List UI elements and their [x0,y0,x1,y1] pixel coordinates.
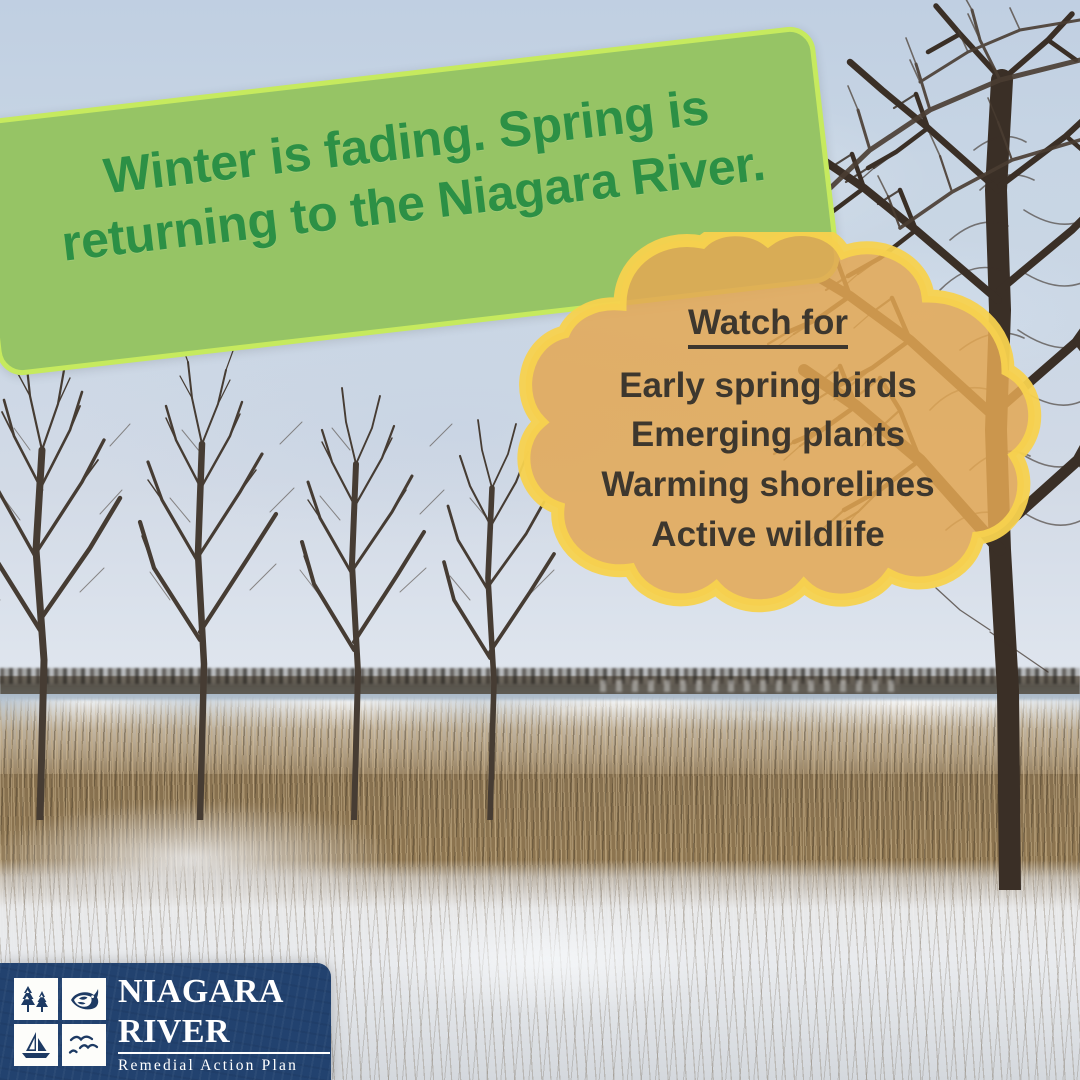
trees-icon [14,978,58,1020]
snow-patch-mid [380,905,720,1015]
callout-heading: Watch for [688,304,848,349]
callout-item-1: Early spring birds [540,361,996,411]
logo-panel: NIAGARA RIVER Remedial Action Plan [0,963,331,1080]
callout-item-4: Active wildlife [540,510,996,560]
fish-icon [62,978,106,1020]
callout-text: Watch for Early spring birds Emerging pl… [488,304,1048,559]
logo-line-niagara: NIAGARA [118,968,330,1008]
callout-item-2: Emerging plants [540,410,996,460]
logo-river-text: RIVER [118,1013,230,1050]
birds-icon [62,1024,106,1066]
callout-item-3: Warming shorelines [540,460,996,510]
callout-heading-wrap: Watch for [540,304,996,361]
logo-wordmark: NIAGARA RIVER Remedial Action Plan [118,968,330,1076]
logo-line-river: RIVER [118,1008,330,1048]
logo-divider [118,1052,330,1054]
watch-for-callout: Watch for Early spring birds Emerging pl… [488,232,1048,620]
logo-tagline: Remedial Action Plan [118,1057,330,1075]
logo-niagara-text: NIAGARA [118,973,284,1010]
logo-icon-tiles [14,978,106,1066]
social-post-canvas: Winter is fading. Spring is returning to… [0,0,1080,1080]
sailboat-icon [14,1024,58,1066]
